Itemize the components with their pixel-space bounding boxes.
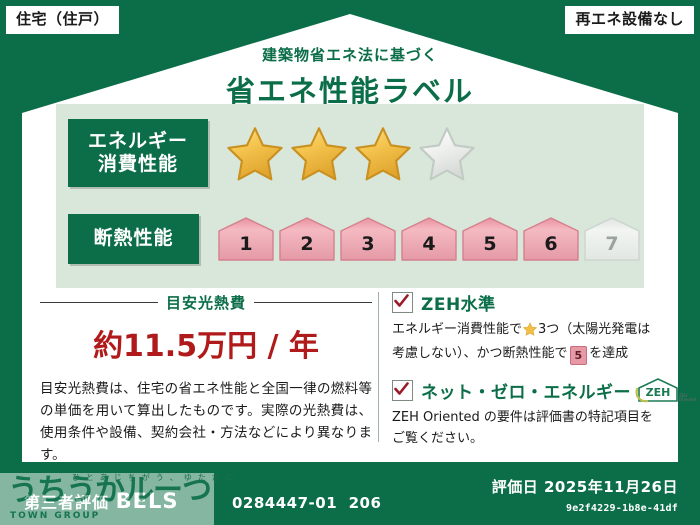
zeh-standard-checkbox[interactable] [392, 292, 413, 313]
net-zero-energy-checkbox[interactable] [392, 380, 413, 401]
evaluation-date-label: 評価日 [492, 478, 539, 496]
zeh-standard-item: ZEH水準 エネルギー消費性能で3つ（太陽光発電は考慮しない）、かつ断熱性能で5… [392, 290, 660, 365]
insulation-grade-empty: 7 [583, 215, 641, 263]
building-type-tag: 住宅（住戸） [6, 6, 119, 34]
star-rating [208, 125, 644, 181]
ratings-panel: エネルギー 消費性能 断熱性能 1234567 [56, 104, 644, 288]
bels-text: BELS [116, 489, 179, 513]
registration-number-suffix: 206 [349, 494, 382, 512]
energy-label-line2: 消費性能 [98, 153, 178, 176]
heading-rule-left [40, 302, 158, 303]
zeh-logo-trademark: ZEHOriented [679, 394, 696, 403]
energy-consumption-label: エネルギー 消費性能 [68, 119, 208, 187]
utility-cost-heading: 目安光熱費 [40, 292, 372, 313]
insulation-grade-filled: 6 [522, 215, 580, 263]
footer-registration-number: 0284447-01 206 [232, 494, 381, 512]
star-filled-icon [354, 125, 412, 181]
insulation-grade-badge: 5 [570, 346, 588, 366]
zeh-standard-body-post: を達成 [589, 346, 628, 361]
utility-cost-block: 目安光熱費 約11.5万円 / 年 目安光熱費は、住宅の省エネ性能と全国一律の燃… [40, 292, 372, 466]
heading-rule-right [254, 302, 372, 303]
footer-hash: 9e2f4229-1b8e-41df [566, 503, 678, 514]
inline-star-icon [523, 322, 537, 344]
svg-text:ZEH: ZEH [646, 386, 671, 399]
insulation-grade-filled: 2 [278, 215, 336, 263]
energy-consumption-row: エネルギー 消費性能 [56, 112, 644, 194]
insulation-grade-number: 2 [300, 233, 313, 263]
net-zero-energy-body: ZEH Oriented の要件は評価書の特記項目をご覧ください。 [392, 408, 660, 450]
registration-number: 0284447-01 [232, 494, 337, 512]
energy-label-line1: エネルギー [88, 130, 188, 153]
insulation-grade-filled: 4 [400, 215, 458, 263]
insulation-grade-number: 5 [483, 233, 496, 263]
net-zero-energy-header: ネット・ゼロ・エネルギー ZEH ZEHOriented [392, 377, 660, 403]
insulation-grade-filled: 5 [461, 215, 519, 263]
zeh-block: ZEH水準 エネルギー消費性能で3つ（太陽光発電は考慮しない）、かつ断熱性能で5… [392, 290, 660, 462]
insulation-grade-filled: 1 [217, 215, 275, 263]
zeh-logo-icon: ZEH ZEHOriented [635, 377, 681, 403]
insulation-grade-filled: 3 [339, 215, 397, 263]
insulation-grade-number: 6 [544, 233, 557, 263]
star-filled-icon [290, 125, 348, 181]
utility-cost-amount: 約11.5万円 / 年 [40, 321, 372, 365]
footer-evaluation-date: 評価日 2025年11月26日 [492, 476, 678, 497]
insulation-grade-number: 3 [361, 233, 374, 263]
label-footer: 第三者評価 BELS 0284447-01 206 評価日 2025年11月26… [0, 465, 700, 525]
insulation-grade-number: 1 [239, 233, 252, 263]
insulation-grade-number: 7 [605, 233, 618, 263]
net-zero-energy-item: ネット・ゼロ・エネルギー ZEH ZEHOriented ZEH Oriente… [392, 377, 660, 450]
zeh-standard-body: エネルギー消費性能で3つ（太陽光発電は考慮しない）、かつ断熱性能で5を達成 [392, 320, 660, 365]
insulation-label: 断熱性能 [68, 214, 199, 264]
zeh-standard-title: ZEH水準 [421, 290, 496, 315]
zeh-standard-body-pre: エネルギー消費性能で [392, 322, 522, 337]
footer-evaluation-label: 第三者評価 BELS [24, 489, 178, 513]
zeh-standard-header: ZEH水準 [392, 290, 660, 315]
third-party-text: 第三者評価 [24, 493, 109, 512]
star-empty-icon [418, 125, 476, 181]
insulation-row: 断熱性能 1234567 [56, 200, 644, 278]
insulation-grade-scale: 1234567 [199, 215, 644, 263]
utility-cost-heading-text: 目安光熱費 [158, 292, 254, 313]
utility-cost-note: 目安光熱費は、住宅の省エネ性能と全国一律の燃料等の単価を用いて算出したものです。… [40, 379, 372, 466]
column-divider [378, 292, 379, 442]
renewable-equipment-tag: 再エネ設備なし [565, 6, 694, 34]
insulation-grade-number: 4 [422, 233, 435, 263]
star-filled-icon [226, 125, 284, 181]
net-zero-energy-title: ネット・ゼロ・エネルギー [421, 378, 631, 403]
energy-performance-label: 住宅（住戸） 再エネ設備なし 建築物省エネ法に基づく 省エネ性能ラベル エネルギ… [0, 0, 700, 525]
insulation-label-text: 断熱性能 [93, 227, 173, 250]
evaluation-date-value: 2025年11月26日 [544, 478, 678, 496]
